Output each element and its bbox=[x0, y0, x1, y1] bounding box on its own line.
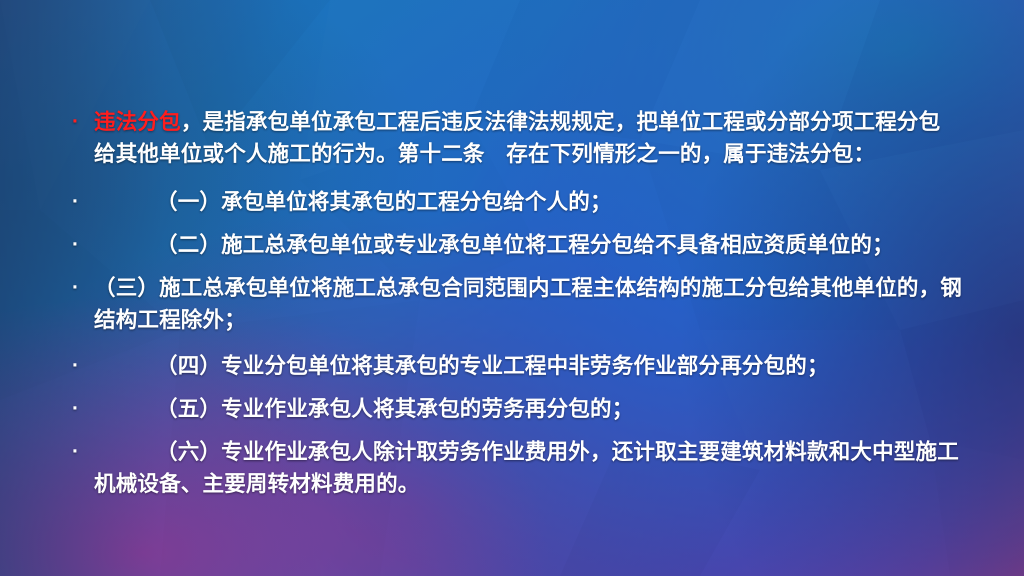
bullet-icon: · bbox=[72, 106, 94, 138]
list-item-5-text: （五）专业作业承包人将其承包的劳务再分包的； bbox=[94, 393, 962, 425]
highlight-term: 违法分包 bbox=[94, 110, 181, 134]
bullet-icon: · bbox=[72, 393, 94, 425]
bullet-icon: · bbox=[72, 186, 94, 218]
bullet-icon: · bbox=[72, 436, 94, 468]
list-item-3-text: （三）施工总承包单位将施工总承包合同范围内工程主体结构的施工分包给其他单位的，钢… bbox=[94, 272, 962, 336]
list-item-1: · （一）承包单位将其承包的工程分包给个人的； bbox=[72, 186, 962, 218]
slide-body-text: · 违法分包，是指承包单位承包工程后违反法律法规规定，把单位工程或分部分项工程分… bbox=[0, 0, 1024, 576]
list-item-4-body: （四）专业分包单位将其承包的专业工程中非劳务作业部分再分包的； bbox=[156, 354, 829, 378]
list-item-2-text: （二）施工总承包单位或专业承包单位将工程分包给不具备相应资质单位的； bbox=[94, 229, 962, 261]
bullet-icon: · bbox=[72, 272, 94, 304]
list-item-3: · （三）施工总承包单位将施工总承包合同范围内工程主体结构的施工分包给其他单位的… bbox=[72, 272, 962, 336]
list-item-1-text: （一）承包单位将其承包的工程分包给个人的； bbox=[94, 186, 962, 218]
list-item-6-text: （六）专业作业承包人除计取劳务作业费用外，还计取主要建筑材料款和大中型施工机械设… bbox=[94, 436, 962, 500]
list-item-4: · （四）专业分包单位将其承包的专业工程中非劳务作业部分再分包的； bbox=[72, 350, 962, 382]
paragraph-definition-text: 违法分包，是指承包单位承包工程后违反法律法规规定，把单位工程或分部分项工程分包给… bbox=[94, 106, 962, 170]
list-item-5-body: （五）专业作业承包人将其承包的劳务再分包的； bbox=[156, 397, 633, 421]
paragraph-definition-body: ，是指承包单位承包工程后违反法律法规规定，把单位工程或分部分项工程分包给其他单位… bbox=[94, 110, 940, 166]
presentation-slide: · 违法分包，是指承包单位承包工程后违反法律法规规定，把单位工程或分部分项工程分… bbox=[0, 0, 1024, 576]
list-item-4-text: （四）专业分包单位将其承包的专业工程中非劳务作业部分再分包的； bbox=[94, 350, 962, 382]
list-item-2: · （二）施工总承包单位或专业承包单位将工程分包给不具备相应资质单位的； bbox=[72, 229, 962, 261]
bullet-icon: · bbox=[72, 350, 94, 382]
paragraph-definition: · 违法分包，是指承包单位承包工程后违反法律法规规定，把单位工程或分部分项工程分… bbox=[72, 106, 962, 170]
list-item-6: · （六）专业作业承包人除计取劳务作业费用外，还计取主要建筑材料款和大中型施工机… bbox=[72, 436, 962, 500]
bullet-icon: · bbox=[72, 229, 94, 261]
list-item-5: · （五）专业作业承包人将其承包的劳务再分包的； bbox=[72, 393, 962, 425]
list-item-1-body: （一）承包单位将其承包的工程分包给个人的； bbox=[156, 190, 612, 214]
list-item-2-body: （二）施工总承包单位或专业承包单位将工程分包给不具备相应资质单位的； bbox=[156, 233, 894, 257]
list-item-6-body: （六）专业作业承包人除计取劳务作业费用外，还计取主要建筑材料款和大中型施工机械设… bbox=[94, 440, 959, 496]
